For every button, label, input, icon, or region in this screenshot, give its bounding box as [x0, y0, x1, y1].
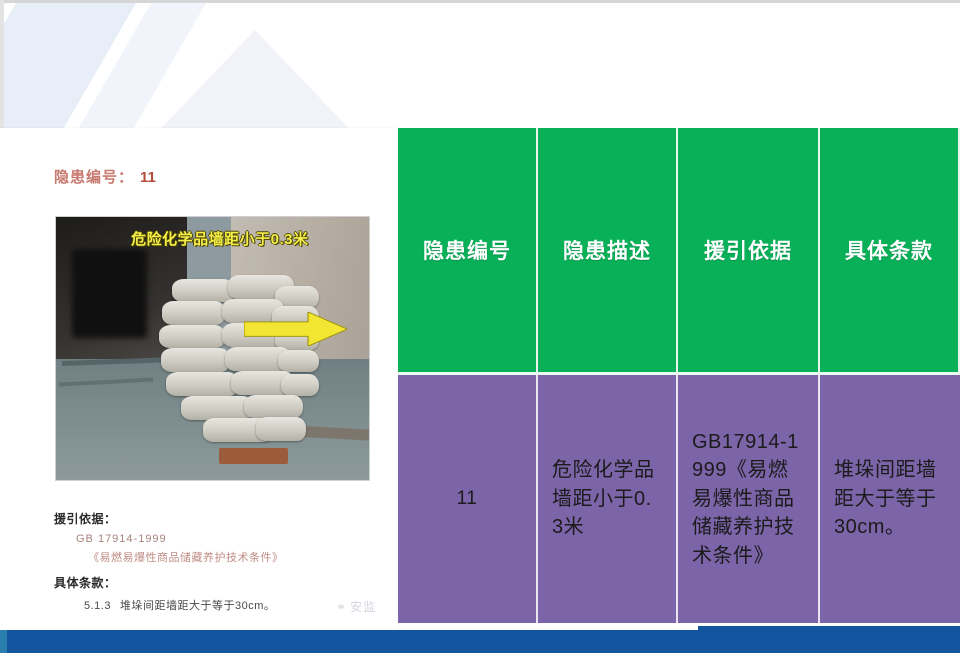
hazard-number-value: 11 [140, 169, 156, 186]
table-cell-hazard-description: 危险化学品墙距小于0.3米 [538, 375, 678, 623]
table-cell-cited-basis: GB17914-1999《易燃易爆性商品储藏养护技术条件》 [678, 375, 820, 623]
footer-bar-right [698, 626, 960, 653]
cell-value: GB17914-1999《易燃易爆性商品储藏养护技术条件》 [692, 428, 804, 570]
cell-value: 11 [457, 486, 478, 513]
basis-heading: 援引依据： [54, 510, 384, 527]
hazard-number-caption: 隐患编号：11 [54, 166, 156, 187]
slide-header-decoration [0, 0, 960, 130]
basis-standard-title: 《易燃易爆性商品储藏养护技术条件》 [88, 549, 384, 565]
clause-text: 堆垛间距墙距大于等于30cm。 [120, 600, 275, 612]
photo-overlay-label: 危险化学品墙距小于0.3米 [131, 228, 308, 249]
cell-value: 堆垛间距墙距大于等于30cm。 [834, 456, 946, 541]
hazard-photo: 危险化学品墙距小于0.3米 [55, 216, 370, 481]
footer-bar-accent [0, 630, 7, 653]
header-label: 援引依据 [704, 235, 792, 265]
table-header-specific-clause: 具体条款 [820, 128, 960, 375]
footer-bar-left [0, 630, 700, 653]
document-panel: 隐患编号：11 [0, 128, 398, 630]
clause-number: 5.1.3 [84, 600, 111, 612]
decorative-top-line [0, 0, 960, 3]
right-arrow-icon [244, 312, 347, 346]
document-body: 援引依据： GB 17914-1999 《易燃易爆性商品储藏养护技术条件》 具体… [54, 510, 384, 613]
header-label: 隐患描述 [563, 235, 651, 265]
table-header-hazard-number: 隐患编号 [398, 128, 538, 375]
photo-shadow-area [72, 249, 147, 338]
table-cell-hazard-number: 11 [398, 375, 538, 623]
hazard-number-label: 隐患编号： [54, 169, 134, 186]
header-label: 隐患编号 [423, 235, 511, 265]
clause-heading: 具体条款： [54, 574, 384, 591]
decorative-triangle [150, 30, 360, 130]
header-label: 具体条款 [845, 235, 933, 265]
decorative-left-line [0, 0, 4, 130]
slide-canvas: 隐患编号：11 [0, 0, 960, 653]
watermark-text: 安监 [350, 600, 376, 614]
watermark: ⚭安监 [336, 598, 376, 615]
cell-value: 危险化学品墙距小于0.3米 [552, 456, 662, 541]
table-cell-specific-clause: 堆垛间距墙距大于等于30cm。 [820, 375, 960, 623]
table-header-hazard-description: 隐患描述 [538, 128, 678, 375]
table-header-cited-basis: 援引依据 [678, 128, 820, 375]
basis-standard-code: GB 17914-1999 [76, 533, 384, 545]
wechat-icon: ⚭ [336, 600, 347, 614]
photo-sack-stack [159, 275, 316, 459]
hazard-table: 隐患编号 隐患描述 援引依据 具体条款 11 危险化学品墙距小于0.3米 GB1… [398, 128, 960, 623]
